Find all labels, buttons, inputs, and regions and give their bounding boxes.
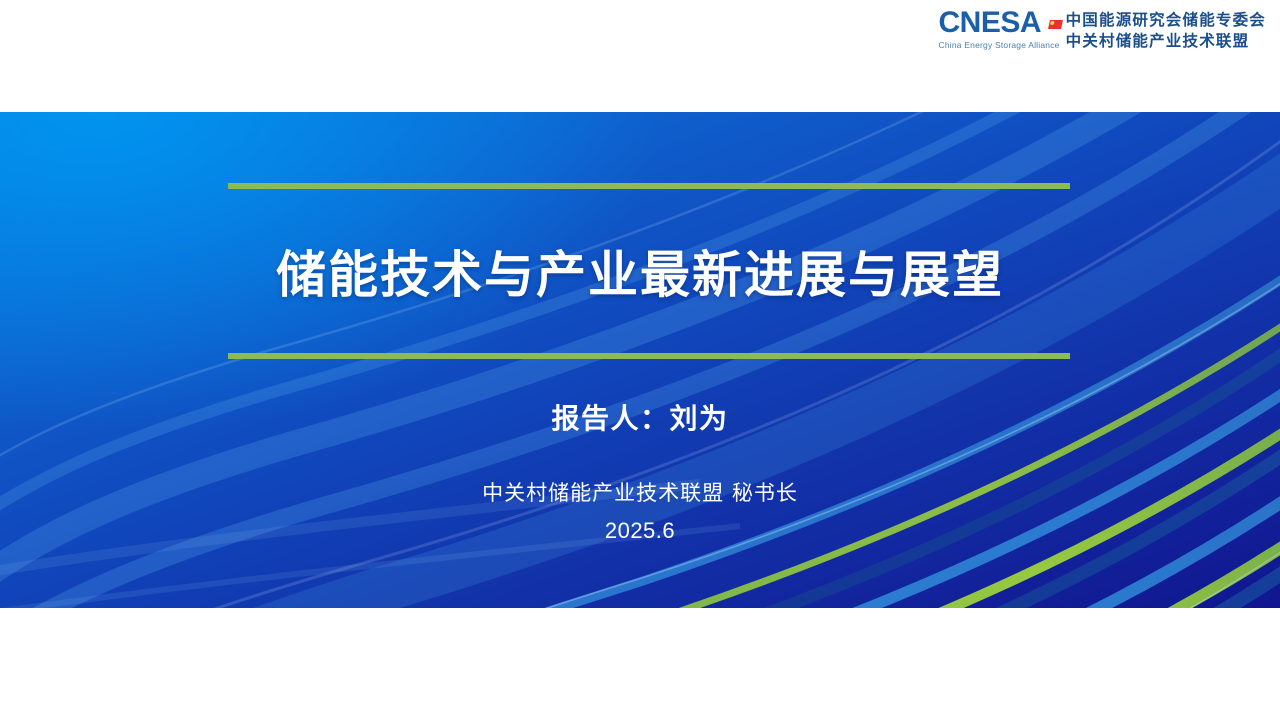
logo-wordmark: CNESA (939, 8, 1042, 38)
slide-footer (0, 608, 1280, 720)
china-flag-icon (1048, 20, 1063, 29)
logo-chinese-line-1: 中国能源研究会储能专委会 (1066, 10, 1266, 31)
logo-english-block: CNESA China Energy Storage Alliance (939, 8, 1060, 50)
presenter-name: 报告人：刘为 (0, 397, 1280, 437)
logo-chinese-block: 中国能源研究会储能专委会 中关村储能产业技术联盟 (1066, 8, 1266, 51)
presentation-slide: CNESA China Energy Storage Alliance 中国能源… (0, 0, 1280, 720)
slide-header: CNESA China Energy Storage Alliance 中国能源… (0, 0, 1280, 112)
logo-tagline: China Energy Storage Alliance (939, 40, 1060, 50)
presenter-affiliation: 中关村储能产业技术联盟 秘书长 (0, 477, 1280, 507)
logo-chinese-line-2: 中关村储能产业技术联盟 (1066, 31, 1266, 52)
accent-rule-bottom (228, 353, 1070, 359)
presentation-date: 2025.6 (0, 518, 1280, 544)
title-content-area: 储能技术与产业最新进展与展望 报告人：刘为 中关村储能产业技术联盟 秘书长 20… (0, 112, 1280, 608)
cnesa-logo: CNESA China Energy Storage Alliance 中国能源… (939, 8, 1267, 51)
page-title: 储能技术与产业最新进展与展望 (0, 250, 1280, 300)
accent-rule-top (228, 183, 1070, 189)
